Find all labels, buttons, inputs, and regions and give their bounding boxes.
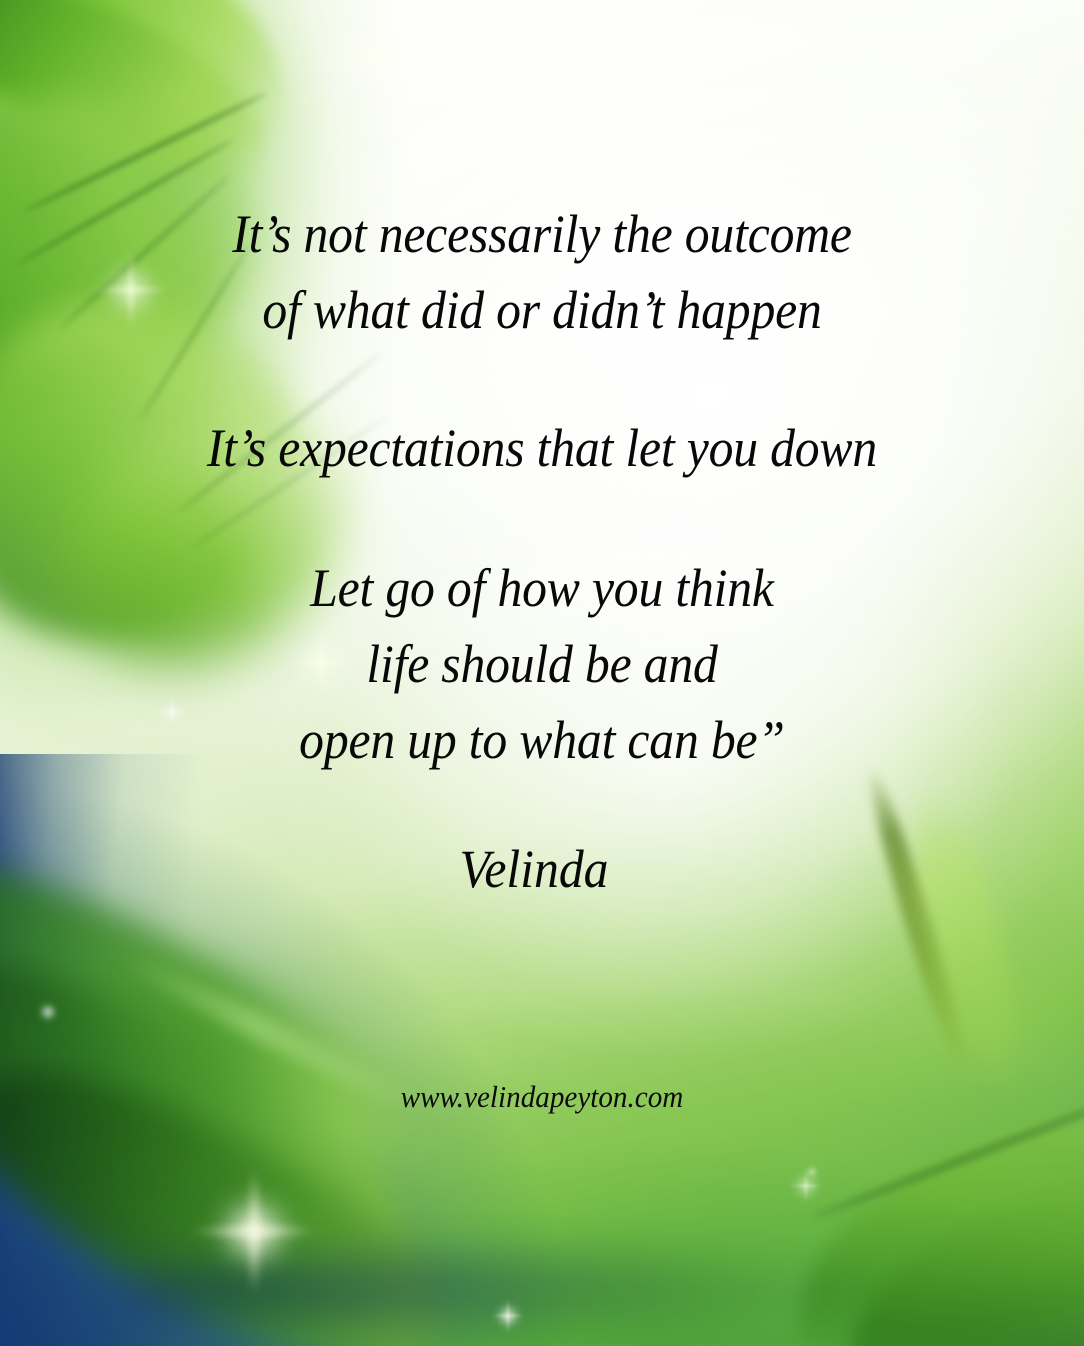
quote-line: of what did or didn’t happen bbox=[43, 272, 1040, 348]
quote-text-block: It’s not necessarily the outcome of what… bbox=[0, 196, 1084, 906]
quote-line: It’s not necessarily the outcome bbox=[43, 196, 1040, 272]
sparkle-ray-vertical bbox=[805, 1168, 807, 1204]
quote-stanza-3: Let go of how you think life should be a… bbox=[0, 550, 1084, 778]
sparkle-ray-vertical bbox=[367, 0, 376, 132]
sparkle-ray-horizontal bbox=[788, 1185, 824, 1187]
sparkle-glow bbox=[324, 14, 420, 110]
sparkle-glow bbox=[793, 1173, 819, 1199]
quote-line: It’s expectations that let you down bbox=[43, 410, 1040, 486]
quote-poster: It’s not necessarily the outcome of what… bbox=[0, 0, 1084, 1346]
quote-line: open up to what can be” bbox=[43, 702, 1040, 778]
quote-attribution: Velinda bbox=[0, 832, 1084, 906]
sparkle-ray-horizontal bbox=[302, 57, 442, 66]
quote-stanza-1: It’s not necessarily the outcome of what… bbox=[0, 196, 1084, 348]
quote-line: Let go of how you think bbox=[43, 550, 1040, 626]
quote-stanza-2: It’s expectations that let you down bbox=[0, 410, 1084, 486]
quote-line: life should be and bbox=[43, 626, 1040, 702]
sparkle-right-dot bbox=[780, 1160, 832, 1212]
website-url: www.velindapeyton.com bbox=[33, 1077, 1052, 1117]
sparkle-top-center bbox=[276, 0, 468, 158]
author-signature: Velinda bbox=[35, 832, 1032, 906]
sparkle-right-small bbox=[798, 1158, 826, 1186]
background-bottom-dark-band bbox=[120, 1255, 880, 1325]
sparkle-glow bbox=[805, 1165, 819, 1179]
